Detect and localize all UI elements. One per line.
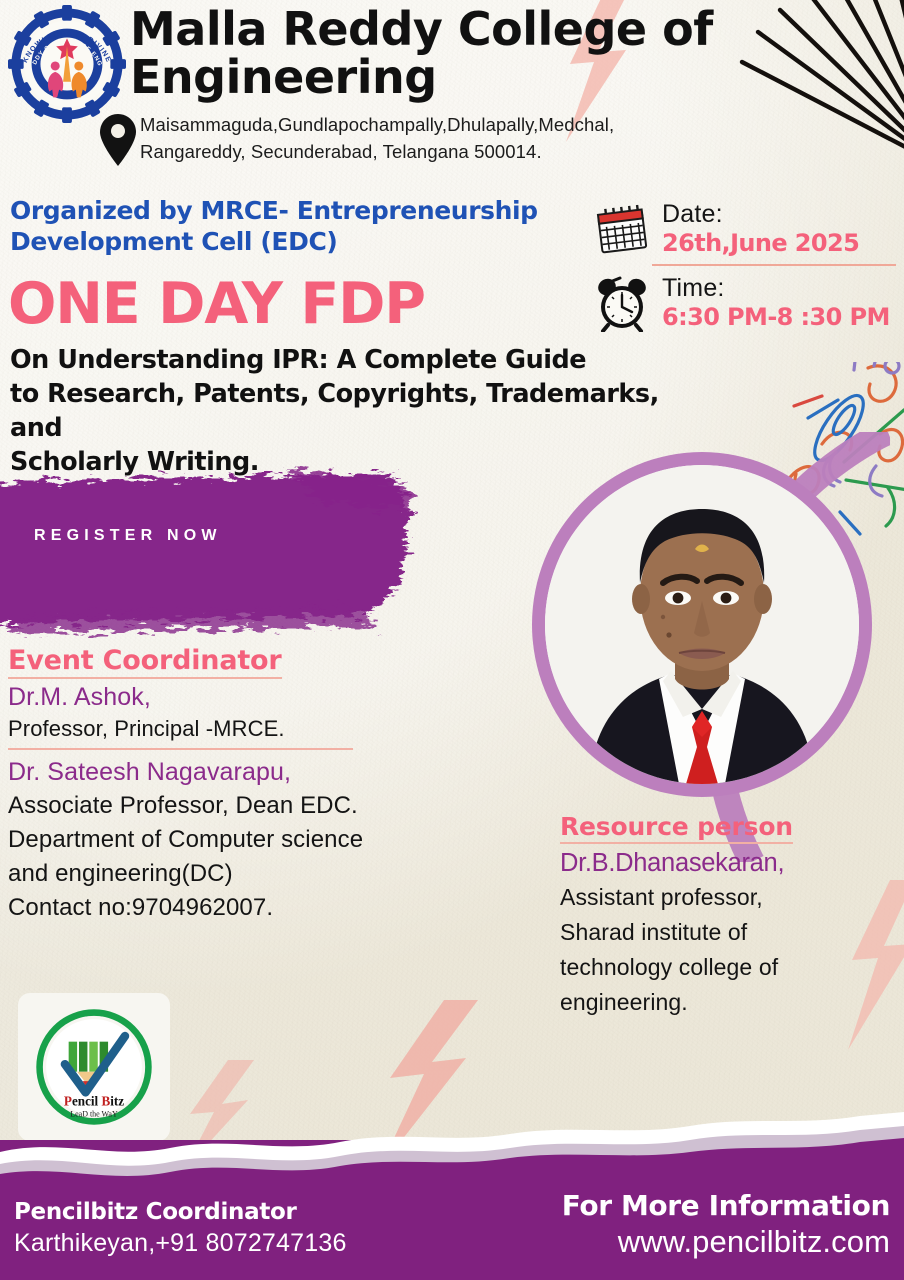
organizer-line-1: Organized by MRCE- Entrepreneurship [10, 196, 610, 227]
college-address: Maisammaguda,Gundlapochampally,Dhulapall… [140, 111, 614, 167]
resource-person-block: Resource person Dr.B.Dhanasekaran, Assis… [560, 812, 904, 1020]
footer-left: Pencilbitz Coordinator Karthikeyan,+91 8… [14, 1199, 347, 1258]
torn-paper-edge [0, 1108, 904, 1186]
date-label: Date: [662, 200, 859, 228]
topic-line-1: On Understanding IPR: A Complete Guide [10, 344, 700, 378]
organizer-line-2: Development Cell (EDC) [10, 227, 610, 258]
footer-right-title: For More Information [562, 1189, 890, 1222]
poster-canvas: KNOWLEDGE IS DIVINE MALLA REDDY COLLEGE … [0, 0, 904, 1280]
coordinator-divider [8, 748, 353, 750]
svg-text:Pencil Bitz: Pencil Bitz [64, 1093, 124, 1108]
address-line-1: Maisammaguda,Gundlapochampally,Dhulapall… [140, 111, 614, 139]
date-row: Date: 26th,June 2025 [594, 200, 896, 258]
resource-person-role-2: Sharad institute of [560, 915, 904, 950]
resource-person-role-4: engineering. [560, 985, 904, 1020]
coordinator-2-role-1: Associate Professor, Dean EDC. [8, 789, 528, 823]
resource-person-name: Dr.B.Dhanasekaran, [560, 847, 904, 880]
alarm-clock-icon [594, 274, 650, 332]
resource-person-role-3: technology college of [560, 950, 904, 985]
address-line-2: Rangareddy, Secunderabad, Telangana 5000… [140, 138, 614, 166]
gear-logo-icon: KNOWLEDGE IS DIVINE MALLA REDDY COLLEGE … [8, 4, 126, 124]
date-value: 26th,June 2025 [662, 229, 859, 258]
footer-left-value: Karthikeyan,+91 8072747136 [14, 1229, 347, 1258]
address-row: Maisammaguda,Gundlapochampally,Dhulapall… [130, 111, 730, 169]
heading-underline [8, 677, 282, 679]
coordinator-1-role: Professor, Principal -MRCE. [8, 714, 528, 744]
schedule-block: Date: 26th,June 2025 [594, 200, 896, 332]
college-logo: KNOWLEDGE IS DIVINE MALLA REDDY COLLEGE … [8, 4, 126, 124]
page-title: Malla Reddy College of Engineering [130, 6, 730, 102]
resource-person-heading-wrap: Resource person [560, 812, 793, 844]
college-heading-block: Malla Reddy College of Engineering Maisa… [126, 4, 730, 169]
footer-website[interactable]: www.pencilbitz.com [562, 1224, 890, 1260]
coordinator-2-role-2: Department of Computer science [8, 823, 528, 857]
resource-person-role-1: Assistant professor, [560, 880, 904, 915]
register-now-button[interactable]: REGISTER NOW [34, 527, 222, 545]
organizer-block: Organized by MRCE- Entrepreneurship Deve… [10, 196, 610, 257]
event-coordinator-block: Event Coordinator Dr.M. Ashok, Professor… [8, 645, 528, 925]
purple-brush-stroke [0, 466, 418, 638]
schedule-divider [652, 264, 896, 266]
heading-underline [560, 842, 793, 844]
event-headline: ONE DAY FDP [8, 276, 425, 333]
time-row: Time: 6:30 PM-8 :30 PM [594, 274, 896, 332]
speaker-portrait-photo [532, 452, 872, 797]
footer: Pencilbitz Coordinator Karthikeyan,+91 8… [0, 1108, 904, 1280]
resource-person-details: Assistant professor, Sharad institute of… [560, 880, 904, 1020]
event-coordinator-heading: Event Coordinator [8, 645, 282, 676]
event-topic: On Understanding IPR: A Complete Guide t… [10, 344, 700, 480]
coordinator-1-name: Dr.M. Ashok, [8, 681, 528, 714]
time-value: 6:30 PM-8 :30 PM [662, 303, 890, 332]
footer-left-title: Pencilbitz Coordinator [14, 1199, 347, 1225]
time-label: Time: [662, 274, 890, 302]
time-texts: Time: 6:30 PM-8 :30 PM [662, 274, 890, 332]
date-texts: Date: 26th,June 2025 [662, 200, 859, 258]
header: KNOWLEDGE IS DIVINE MALLA REDDY COLLEGE … [8, 4, 904, 169]
resource-person-heading: Resource person [560, 812, 793, 841]
footer-right: For More Information www.pencilbitz.com [562, 1189, 890, 1260]
coordinator-2-name: Dr. Sateesh Nagavarapu, [8, 756, 528, 789]
coordinator-2-role-3: and engineering(DC) [8, 857, 528, 891]
topic-line-2: to Research, Patents, Copyrights, Tradem… [10, 378, 700, 446]
coordinator-contact: Contact no:9704962007. [8, 891, 528, 925]
event-coordinator-heading-wrap: Event Coordinator [8, 645, 282, 679]
location-pin-icon [96, 111, 140, 169]
calendar-icon [594, 200, 650, 258]
